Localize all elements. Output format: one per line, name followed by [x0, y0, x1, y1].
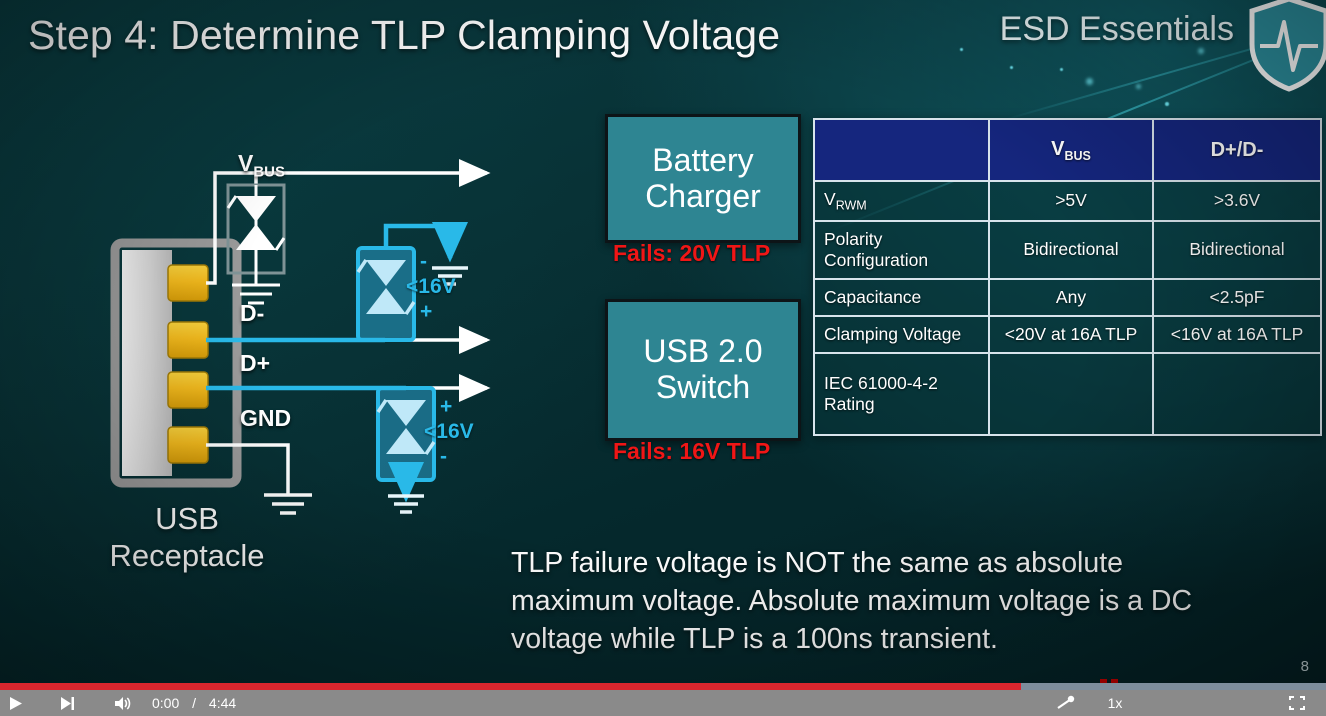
- video-progress-played: [0, 683, 1021, 690]
- video-progress-bar[interactable]: [0, 683, 1326, 690]
- row-label-capacitance: Capacitance: [814, 279, 989, 316]
- cell-vrwm-dpdm: >3.6V: [1153, 181, 1321, 221]
- block-usb-switch-line1: USB 2.0: [643, 334, 762, 370]
- cell-iec-dpdm: [1153, 353, 1321, 435]
- tvs-dplus-sign-top: +: [440, 395, 452, 419]
- fails-note-charger: Fails: 20V TLP: [613, 240, 770, 267]
- video-timestamp: 0:00 / 4:44: [152, 695, 236, 711]
- cell-iec-vbus: [989, 353, 1153, 435]
- next-track-icon[interactable]: [52, 690, 82, 716]
- cell-capacitance-dpdm: <2.5pF: [1153, 279, 1321, 316]
- background-dot: [1060, 68, 1063, 71]
- background-dot: [1165, 102, 1169, 106]
- block-battery-charger-line2: Charger: [645, 179, 761, 215]
- tvs-diode-dplus: [378, 388, 434, 512]
- requirements-table: VBUS D+/D- VRWM >5V >3.6V Polarity Confi…: [813, 118, 1322, 436]
- settings-icon[interactable]: [1052, 690, 1082, 716]
- tvs-dminus-sign-bottom: +: [420, 300, 432, 324]
- row-label-polarity: Polarity Configuration: [814, 221, 989, 279]
- pin-label-dminus: D-: [240, 300, 264, 327]
- block-battery-charger: Battery Charger: [605, 114, 801, 243]
- volume-icon[interactable]: [108, 690, 138, 716]
- block-usb-switch-line2: Switch: [643, 370, 762, 406]
- table-header-dpdm: D+/D-: [1153, 119, 1321, 181]
- tvs-dplus-voltage: <16V: [424, 420, 474, 444]
- brand-label: ESD Essentials: [1000, 10, 1234, 49]
- table-row: IEC 61000-4-2 Rating: [814, 353, 1321, 435]
- esd-shield-icon: [1246, 0, 1326, 92]
- cell-clamping-dpdm: <16V at 16A TLP: [1153, 316, 1321, 353]
- tvs-dplus-sign-bottom: -: [440, 445, 447, 469]
- playback-speed-label[interactable]: 1x: [1098, 690, 1132, 716]
- row-label-iec: IEC 61000-4-2 Rating: [814, 353, 989, 435]
- pin-label-gnd: GND: [240, 405, 291, 432]
- usb-caption-line1: USB: [92, 500, 282, 537]
- table-row: Clamping Voltage <20V at 16A TLP <16V at…: [814, 316, 1321, 353]
- background-dot: [1086, 78, 1093, 85]
- pin-label-vbus: VBUS: [238, 150, 285, 181]
- tvs-dminus-voltage: <16V: [406, 275, 456, 299]
- usb-receptacle: [115, 243, 237, 483]
- video-controls-bar: 0:00 / 4:44 1x: [0, 690, 1326, 716]
- table-row: Capacitance Any <2.5pF: [814, 279, 1321, 316]
- time-separator: /: [192, 695, 196, 711]
- current-time: 0:00: [152, 695, 179, 711]
- cell-vrwm-vbus: >5V: [989, 181, 1153, 221]
- table-header-vbus: VBUS: [989, 119, 1153, 181]
- background-dot: [1010, 66, 1013, 69]
- slide-canvas: Step 4: Determine TLP Clamping Voltage E…: [0, 0, 1326, 683]
- block-usb-switch: USB 2.0 Switch: [605, 299, 801, 441]
- duration: 4:44: [209, 695, 236, 711]
- pin-label-dplus: D+: [240, 350, 270, 377]
- cell-polarity-vbus: Bidirectional: [989, 221, 1153, 279]
- usb-caption-line2: Receptacle: [92, 537, 282, 574]
- row-label-clamping: Clamping Voltage: [814, 316, 989, 353]
- schematic-diagram: VBUS D- D+ GND - <16V + + <16V - Battery…: [0, 100, 810, 570]
- table-row: VRWM >5V >3.6V: [814, 181, 1321, 221]
- cell-clamping-vbus: <20V at 16A TLP: [989, 316, 1153, 353]
- slide-caption: TLP failure voltage is NOT the same as a…: [511, 545, 1201, 659]
- page-title: Step 4: Determine TLP Clamping Voltage: [28, 12, 780, 59]
- cell-capacitance-vbus: Any: [989, 279, 1153, 316]
- right-controls: 1x: [1052, 690, 1312, 716]
- page-number: 8: [1301, 658, 1309, 675]
- usb-receptacle-caption: USB Receptacle: [92, 500, 282, 574]
- table-header-row: VBUS D+/D-: [814, 119, 1321, 181]
- row-label-vrwm: VRWM: [814, 181, 989, 221]
- background-dot: [1136, 84, 1141, 89]
- video-slide-screenshot: Step 4: Determine TLP Clamping Voltage E…: [0, 0, 1326, 716]
- table-header-corner: [814, 119, 989, 181]
- play-icon[interactable]: [0, 690, 30, 716]
- playback-controls: 0:00 / 4:44: [0, 690, 236, 716]
- fullscreen-icon[interactable]: [1282, 690, 1312, 716]
- background-dot: [960, 48, 963, 51]
- fails-note-switch: Fails: 16V TLP: [613, 438, 770, 465]
- cell-polarity-dpdm: Bidirectional: [1153, 221, 1321, 279]
- tvs-dminus-sign-top: -: [420, 250, 427, 274]
- block-battery-charger-line1: Battery: [645, 143, 761, 179]
- table-row: Polarity Configuration Bidirectional Bid…: [814, 221, 1321, 279]
